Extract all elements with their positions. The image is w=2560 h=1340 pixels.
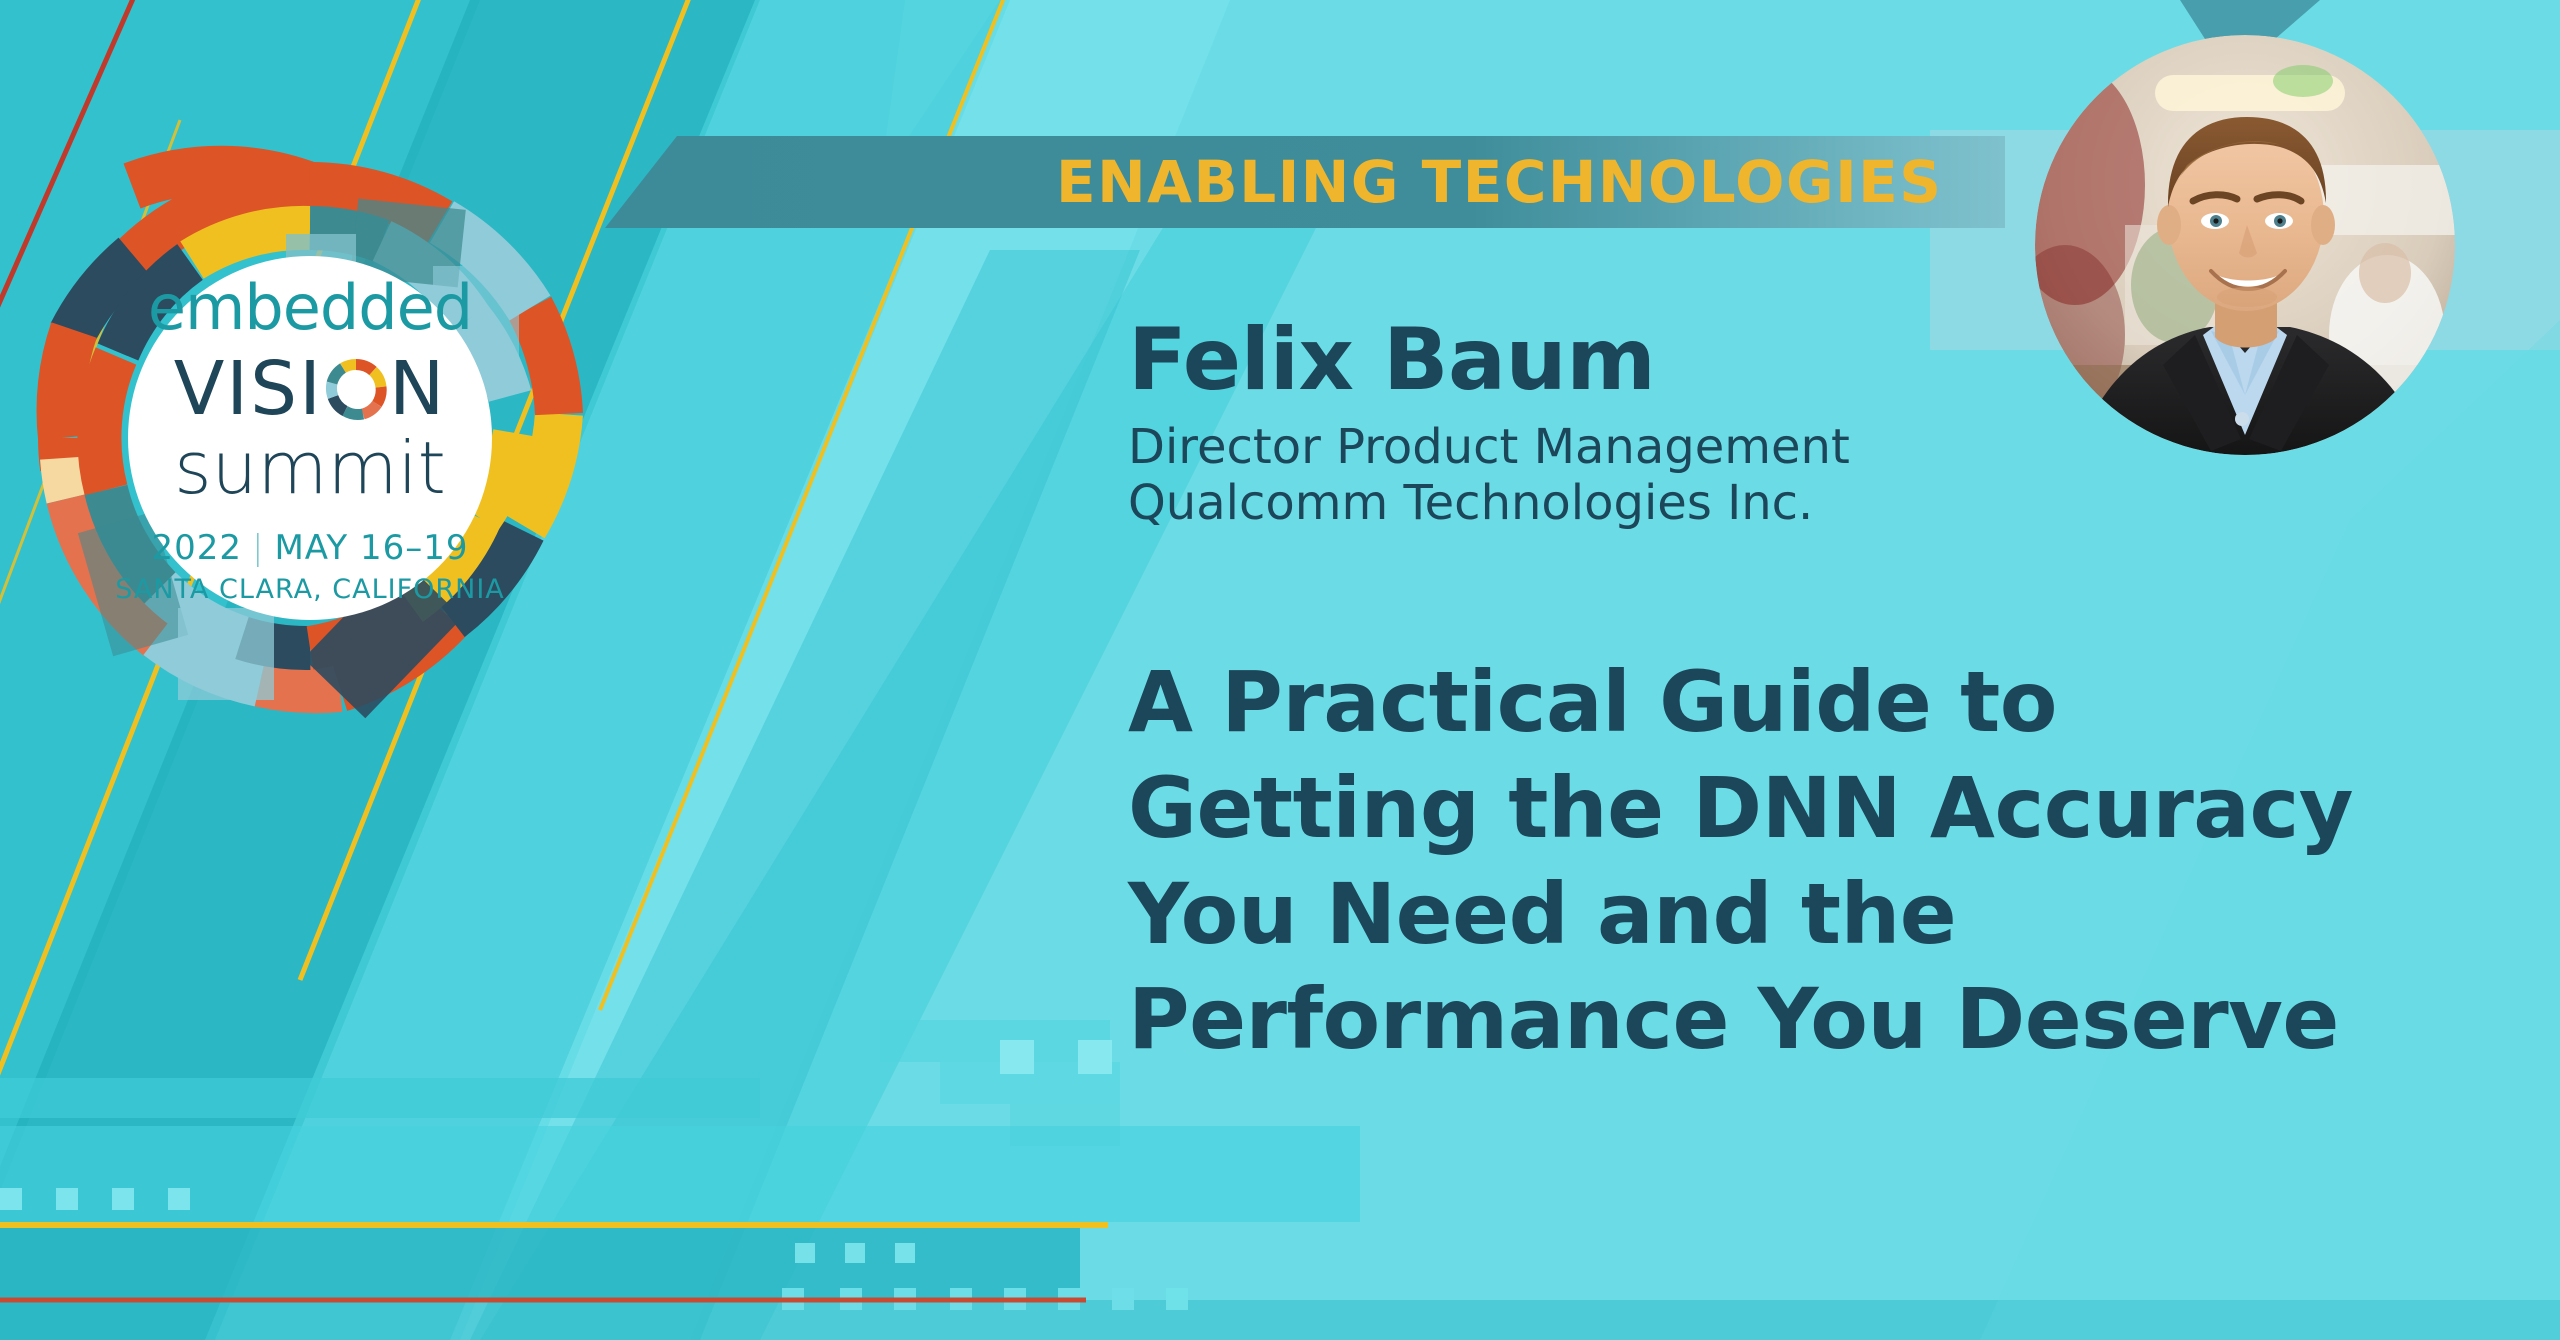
speaker-photo (2035, 35, 2455, 455)
talk-title-line-1: A Practical Guide to (1128, 650, 2468, 756)
talk-title-line-2: Getting the DNN Accuracy (1128, 756, 2468, 862)
talk-title: A Practical Guide to Getting the DNN Acc… (1128, 650, 2468, 1073)
dot-row-right (795, 1243, 915, 1263)
speaker-role: Director Product Management (1128, 419, 1850, 475)
track-banner: ENABLING TECHNOLOGIES (1000, 136, 1943, 228)
speaker-avatar (2035, 35, 2455, 455)
speaker-info: Felix Baum Director Product Management Q… (1128, 315, 1850, 532)
logo-ring-graphic (10, 138, 610, 738)
speaker-organization: Qualcomm Technologies Inc. (1128, 475, 1850, 531)
embedded-vision-summit-logo: embedded VISI (10, 138, 610, 738)
session-card: embedded VISI (0, 0, 2560, 1340)
track-banner-label: ENABLING TECHNOLOGIES (1056, 148, 1943, 216)
talk-title-line-3: You Need and the (1128, 862, 2468, 968)
speaker-name: Felix Baum (1128, 315, 1850, 405)
talk-title-line-4: Performance You Deserve (1128, 967, 2468, 1073)
